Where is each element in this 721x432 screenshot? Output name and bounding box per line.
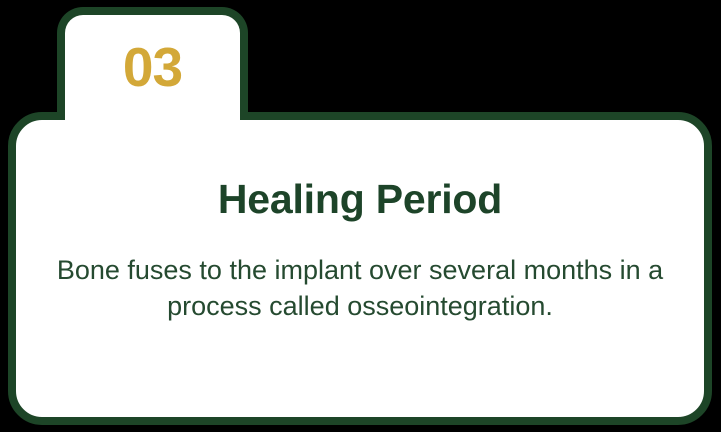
tab-card-junction [65,112,240,124]
step-card-title: Healing Period [8,175,712,223]
step-number-label: 03 [65,15,240,119]
step-card-description: Bone fuses to the implant over several m… [8,252,712,324]
step-card-canvas: 03 Healing Period Bone fuses to the impl… [0,0,721,432]
